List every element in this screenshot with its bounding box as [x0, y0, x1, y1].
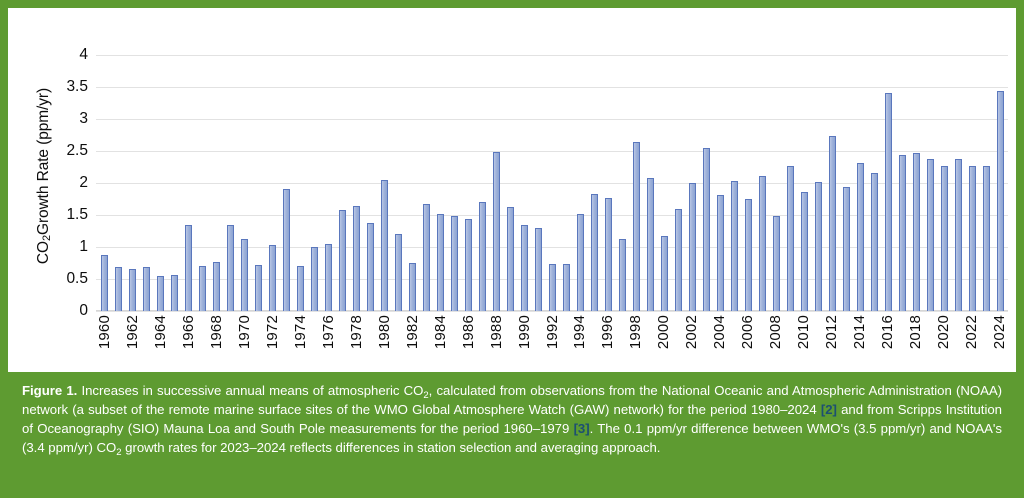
bar-1979[interactable] — [367, 223, 374, 311]
x-tick-slot: 2006 — [740, 312, 755, 372]
bar-1981[interactable] — [395, 234, 402, 311]
bar-slot — [405, 55, 419, 311]
bar-slot — [783, 55, 797, 311]
bar-slot — [573, 55, 587, 311]
bar-slot — [139, 55, 153, 311]
bar-2019[interactable] — [927, 159, 934, 311]
y-axis-tick-label: 3 — [26, 110, 96, 128]
bar-1978[interactable] — [353, 206, 360, 311]
x-axis-tick-label: 1994 — [572, 315, 587, 349]
x-axis-tick-label: 1998 — [628, 315, 643, 349]
bar-slot — [825, 55, 839, 311]
x-tick-slot: 1990 — [517, 312, 532, 372]
x-axis-tick-label: 2006 — [740, 315, 755, 349]
bar-slot — [951, 55, 965, 311]
x-tick-slot — [252, 312, 265, 372]
x-axis-tick-label: 2000 — [656, 315, 671, 349]
bar-1964[interactable] — [157, 276, 164, 311]
figure-caption: Figure 1. Increases in successive annual… — [8, 372, 1016, 464]
x-tick-slot — [448, 312, 461, 372]
bar-2007[interactable] — [759, 176, 766, 311]
bar-1983[interactable] — [423, 204, 430, 311]
y-axis-tick-label: 3.5 — [26, 78, 96, 96]
x-tick-slot: 1968 — [209, 312, 224, 372]
bar-slot — [559, 55, 573, 311]
bar-1962[interactable] — [129, 269, 136, 311]
x-axis-tick-label: 2012 — [824, 315, 839, 349]
bar-slot — [475, 55, 489, 311]
bar-slot — [223, 55, 237, 311]
bar-slot — [363, 55, 377, 311]
x-tick-slot — [532, 312, 545, 372]
x-tick-slot: 2022 — [964, 312, 979, 372]
caption-subscript-2: 2 — [116, 447, 121, 458]
x-axis-tick-label: 1978 — [349, 315, 364, 349]
bar-slot — [447, 55, 461, 311]
y-axis-tick-label: 1.5 — [26, 206, 96, 224]
bar-slot — [251, 55, 265, 311]
x-axis-tick-labels: 1960196219641966196819701972197419761978… — [96, 312, 1008, 372]
x-axis-tick-label: 1968 — [209, 315, 224, 349]
x-axis-tick-label: 2004 — [712, 315, 727, 349]
bar-slot — [965, 55, 979, 311]
citation-link-3[interactable]: [3] — [574, 421, 590, 436]
bar-slot — [629, 55, 643, 311]
bar-slot — [433, 55, 447, 311]
bar-slot — [867, 55, 881, 311]
bar-2014[interactable] — [857, 163, 864, 311]
bar-1980[interactable] — [381, 180, 388, 311]
x-tick-slot: 2010 — [796, 312, 811, 372]
x-tick-slot: 2004 — [712, 312, 727, 372]
bar-2015[interactable] — [871, 173, 878, 311]
bar-slot — [727, 55, 741, 311]
x-tick-slot: 2008 — [768, 312, 783, 372]
bar-2024[interactable] — [997, 91, 1004, 311]
bar-slot — [209, 55, 223, 311]
bar-1960[interactable] — [101, 255, 108, 311]
bar-slot — [125, 55, 139, 311]
x-tick-slot — [420, 312, 433, 372]
bar-slot — [531, 55, 545, 311]
bar-slot — [699, 55, 713, 311]
x-tick-slot — [336, 312, 349, 372]
bar-slot — [923, 55, 937, 311]
x-tick-slot: 1980 — [377, 312, 392, 372]
x-tick-slot: 1964 — [153, 312, 168, 372]
bar-slot — [755, 55, 769, 311]
bar-slot — [895, 55, 909, 311]
bar-slot — [853, 55, 867, 311]
x-tick-slot: 1994 — [572, 312, 587, 372]
bar-slot — [419, 55, 433, 311]
bar-slot — [181, 55, 195, 311]
x-tick-slot: 2000 — [656, 312, 671, 372]
x-axis-tick-label: 1984 — [433, 315, 448, 349]
bar-1999[interactable] — [647, 178, 654, 311]
x-tick-slot — [196, 312, 209, 372]
x-tick-slot: 1972 — [265, 312, 280, 372]
bar-1968[interactable] — [213, 262, 220, 311]
bar-1972[interactable] — [269, 245, 276, 311]
bar-1974[interactable] — [297, 266, 304, 311]
bar-1989[interactable] — [507, 207, 514, 311]
bar-1961[interactable] — [115, 267, 122, 311]
bar-slot — [489, 55, 503, 311]
bar-1966[interactable] — [185, 225, 192, 311]
x-axis-tick-label: 1972 — [265, 315, 280, 349]
x-tick-slot — [168, 312, 181, 372]
bar-2013[interactable] — [843, 187, 850, 311]
x-tick-slot — [392, 312, 405, 372]
x-axis-tick-label: 1990 — [517, 315, 532, 349]
bar-1985[interactable] — [451, 216, 458, 311]
x-axis-tick-label: 1996 — [600, 315, 615, 349]
bar-slot — [769, 55, 783, 311]
bar-2006[interactable] — [745, 199, 752, 311]
bar-1993[interactable] — [563, 264, 570, 311]
bar-2017[interactable] — [899, 155, 906, 311]
x-tick-slot: 1974 — [293, 312, 308, 372]
x-tick-slot: 1970 — [237, 312, 252, 372]
bar-1994[interactable] — [577, 214, 584, 311]
bar-slot — [167, 55, 181, 311]
bar-2008[interactable] — [773, 216, 780, 311]
bar-slot — [713, 55, 727, 311]
bar-2004[interactable] — [717, 195, 724, 311]
x-axis-tick-label: 2010 — [796, 315, 811, 349]
bar-slot — [601, 55, 615, 311]
bar-2010[interactable] — [801, 192, 808, 311]
x-axis-tick-label: 1966 — [181, 315, 196, 349]
bar-slot — [279, 55, 293, 311]
x-axis-tick-label: 1982 — [405, 315, 420, 349]
bar-1990[interactable] — [521, 225, 528, 311]
x-tick-slot: 2016 — [880, 312, 895, 372]
bar-slot — [461, 55, 475, 311]
bar-slot — [937, 55, 951, 311]
bar-slot — [671, 55, 685, 311]
bar-1992[interactable] — [549, 264, 556, 311]
bar-1971[interactable] — [255, 265, 262, 311]
bar-1970[interactable] — [241, 239, 248, 311]
y-axis-tick-label: 4 — [26, 46, 96, 64]
x-tick-slot — [224, 312, 237, 372]
bar-series — [96, 55, 1008, 311]
bar-1984[interactable] — [437, 214, 444, 311]
bar-slot — [881, 55, 895, 311]
x-axis-tick-label: 2008 — [768, 315, 783, 349]
x-axis-tick-label: 1974 — [293, 315, 308, 349]
bar-slot — [307, 55, 321, 311]
x-tick-slot: 1978 — [349, 312, 364, 372]
x-tick-slot — [364, 312, 377, 372]
bar-1969[interactable] — [227, 225, 234, 311]
x-tick-slot — [504, 312, 517, 372]
bar-slot — [293, 55, 307, 311]
x-axis-tick-label: 1964 — [153, 315, 168, 349]
x-axis-tick-label: 1960 — [97, 315, 112, 349]
x-axis-tick-label: 1986 — [461, 315, 476, 349]
x-axis-tick-label: 2016 — [880, 315, 895, 349]
x-tick-slot: 2020 — [936, 312, 951, 372]
bar-2016[interactable] — [885, 93, 892, 311]
plot-area — [96, 55, 1008, 311]
x-axis-tick-label: 1976 — [321, 315, 336, 349]
bar-2021[interactable] — [955, 159, 962, 311]
bar-1988[interactable] — [493, 152, 500, 311]
bar-1995[interactable] — [591, 194, 598, 311]
bar-slot — [797, 55, 811, 311]
x-tick-slot: 1962 — [125, 312, 140, 372]
figure-container: CO2 Growth Rate (ppm/yr) 43.532.521.510.… — [0, 0, 1024, 498]
bar-slot — [545, 55, 559, 311]
chart-panel: CO2 Growth Rate (ppm/yr) 43.532.521.510.… — [8, 8, 1016, 372]
bar-slot — [111, 55, 125, 311]
bar-slot — [839, 55, 853, 311]
x-axis-tick-label: 2002 — [684, 315, 699, 349]
caption-part-5: growth rates for 2023–2024 reflects diff… — [122, 440, 661, 455]
x-axis-tick-label: 2020 — [936, 315, 951, 349]
bar-slot — [643, 55, 657, 311]
x-axis-tick-label: 1988 — [489, 315, 504, 349]
bar-slot — [587, 55, 601, 311]
bar-2009[interactable] — [787, 166, 794, 311]
x-tick-slot: 1996 — [600, 312, 615, 372]
x-axis-tick-label: 1970 — [237, 315, 252, 349]
caption-subscript-1: 2 — [423, 390, 428, 401]
bar-2020[interactable] — [941, 166, 948, 311]
bar-2022[interactable] — [969, 166, 976, 311]
y-axis-tick-label: 2.5 — [26, 142, 96, 160]
x-tick-slot — [308, 312, 321, 372]
x-tick-slot: 2012 — [824, 312, 839, 372]
x-tick-slot: 1984 — [433, 312, 448, 372]
citation-link-2[interactable]: [2] — [821, 402, 837, 417]
y-axis-tick-label: 0.5 — [26, 270, 96, 288]
bar-1987[interactable] — [479, 202, 486, 311]
bar-slot — [741, 55, 755, 311]
x-axis-tick-label: 1980 — [377, 315, 392, 349]
bar-slot — [97, 55, 111, 311]
x-axis-tick-label: 2024 — [992, 315, 1007, 349]
y-axis-tick-label: 0 — [26, 302, 96, 320]
caption-figure-label: Figure 1. — [22, 383, 77, 398]
x-axis-tick-label: 2014 — [852, 315, 867, 349]
bar-slot — [685, 55, 699, 311]
bar-1975[interactable] — [311, 247, 318, 311]
x-axis-tick-label: 1992 — [545, 315, 560, 349]
x-tick-slot: 2002 — [684, 312, 699, 372]
x-tick-slot: 1976 — [321, 312, 336, 372]
bar-1973[interactable] — [283, 189, 290, 311]
bar-slot — [237, 55, 251, 311]
bar-2002[interactable] — [689, 183, 696, 311]
bar-slot — [517, 55, 531, 311]
x-axis-tick-label: 2022 — [964, 315, 979, 349]
bar-2005[interactable] — [731, 181, 738, 311]
bar-slot — [979, 55, 993, 311]
bar-1997[interactable] — [619, 239, 626, 311]
x-axis-tick-label: 2018 — [908, 315, 923, 349]
bar-1965[interactable] — [171, 275, 178, 311]
bar-slot — [321, 55, 335, 311]
y-axis-tick-labels: 43.532.521.510.50 — [8, 55, 96, 311]
bar-2000[interactable] — [661, 236, 668, 311]
y-axis-tick-label: 2 — [26, 174, 96, 192]
y-axis-tick-label: 1 — [26, 238, 96, 256]
x-tick-slot: 1998 — [628, 312, 643, 372]
bar-slot — [153, 55, 167, 311]
bar-slot — [657, 55, 671, 311]
x-tick-slot — [140, 312, 153, 372]
bar-2011[interactable] — [815, 182, 822, 311]
bar-slot — [615, 55, 629, 311]
bar-1967[interactable] — [199, 266, 206, 311]
bar-slot — [195, 55, 209, 311]
bar-1963[interactable] — [143, 267, 150, 311]
bar-2012[interactable] — [829, 136, 836, 311]
bar-1986[interactable] — [465, 219, 472, 311]
x-tick-slot — [280, 312, 293, 372]
bar-2023[interactable] — [983, 166, 990, 311]
bar-2003[interactable] — [703, 148, 710, 311]
bar-slot — [391, 55, 405, 311]
x-tick-slot — [476, 312, 489, 372]
bar-2001[interactable] — [675, 209, 682, 311]
bar-slot — [377, 55, 391, 311]
x-tick-slot: 2014 — [852, 312, 867, 372]
bar-1996[interactable] — [605, 198, 612, 311]
x-tick-slot: 1960 — [97, 312, 112, 372]
x-tick-slot: 1992 — [545, 312, 560, 372]
x-tick-slot: 2018 — [908, 312, 923, 372]
bar-1982[interactable] — [409, 263, 416, 311]
x-tick-slot: 1986 — [461, 312, 476, 372]
bar-slot — [349, 55, 363, 311]
x-tick-slot: 1982 — [405, 312, 420, 372]
bar-2018[interactable] — [913, 153, 920, 311]
x-tick-slot: 1988 — [489, 312, 504, 372]
bar-slot — [265, 55, 279, 311]
bar-slot — [993, 55, 1007, 311]
x-tick-slot: 1966 — [181, 312, 196, 372]
bar-1976[interactable] — [325, 244, 332, 311]
x-tick-slot: 2024 — [992, 312, 1007, 372]
bar-slot — [335, 55, 349, 311]
bar-1998[interactable] — [633, 142, 640, 311]
bar-1991[interactable] — [535, 228, 542, 311]
bar-slot — [503, 55, 517, 311]
x-axis-tick-label: 1962 — [125, 315, 140, 349]
caption-part-1: Increases in successive annual means of … — [77, 383, 423, 398]
bar-slot — [909, 55, 923, 311]
bar-slot — [811, 55, 825, 311]
bar-1977[interactable] — [339, 210, 346, 311]
